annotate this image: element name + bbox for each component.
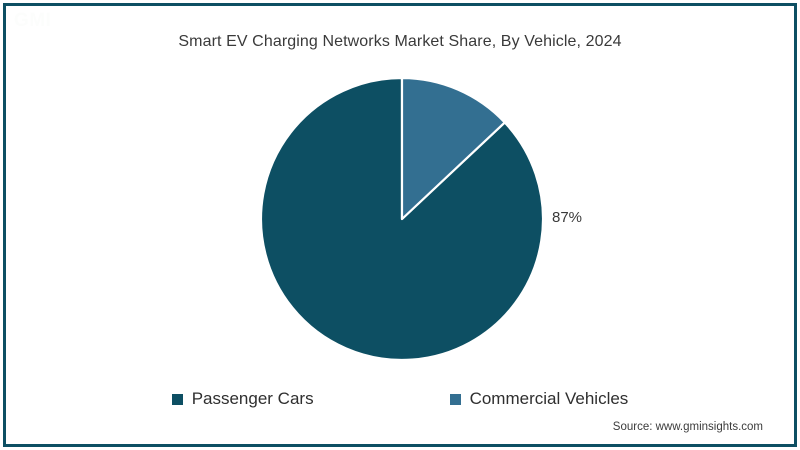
watermark-logo: GMI	[14, 10, 51, 32]
legend-item-commercial-vehicles[interactable]: Commercial Vehicles	[450, 389, 629, 409]
legend-label: Passenger Cars	[192, 389, 314, 409]
source-attribution: Source: www.gminsights.com	[613, 421, 763, 433]
pie-value-label-passenger-cars: 87%	[552, 209, 582, 226]
legend-item-passenger-cars[interactable]: Passenger Cars	[172, 389, 314, 409]
pie-slices	[261, 78, 543, 360]
chart-title: Smart EV Charging Networks Market Share,…	[0, 33, 800, 51]
chart-card: GMI Smart EV Charging Networks Market Sh…	[0, 0, 800, 450]
legend-label: Commercial Vehicles	[470, 389, 629, 409]
legend-swatch-icon	[450, 394, 461, 405]
legend-swatch-icon	[172, 394, 183, 405]
pie-chart	[261, 78, 543, 360]
pie-svg	[261, 78, 543, 360]
chart-legend: Passenger Cars Commercial Vehicles	[0, 389, 800, 409]
